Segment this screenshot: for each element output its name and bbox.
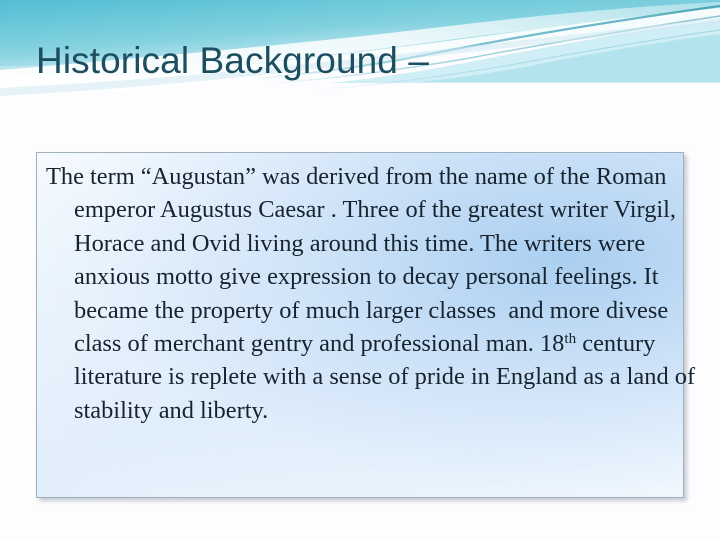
body-paragraph: The term “Augustan” was derived from the… [46,160,706,427]
presentation-slide: Historical Background – The term “August… [0,0,720,539]
content-text-box: The term “Augustan” was derived from the… [36,152,684,498]
page-title: Historical Background – [36,38,676,84]
paragraph-segment-1: The term “Augustan” was derived from the… [46,163,682,357]
ordinal-superscript: th [564,331,576,347]
